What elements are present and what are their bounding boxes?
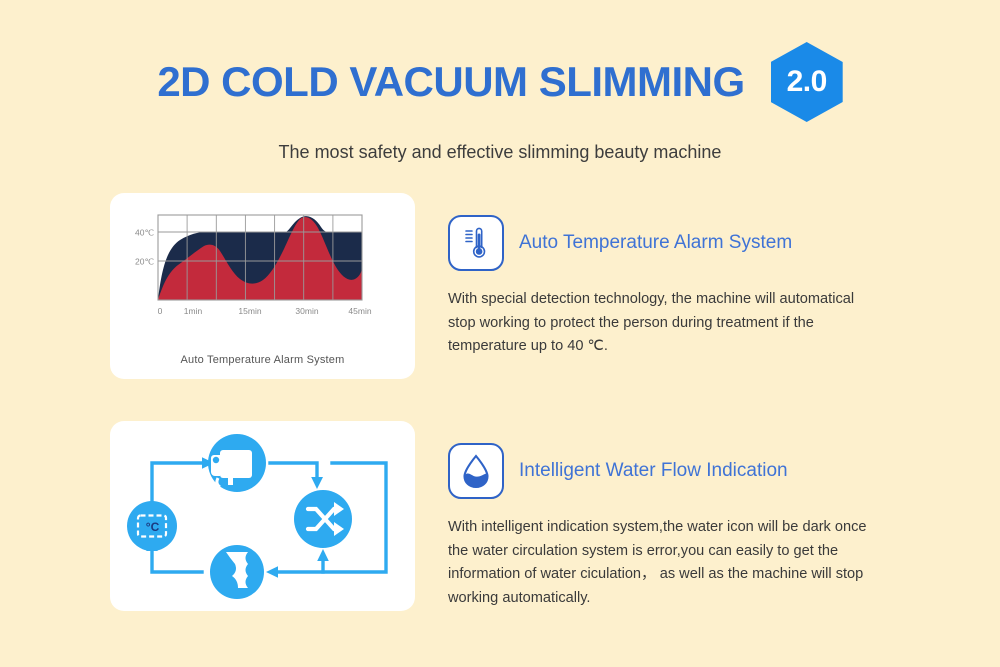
flow-diagram-svg: °C <box>110 421 415 611</box>
flow-node-shuffle <box>294 490 352 548</box>
feature-body-water: With intelligent indication system,the w… <box>448 516 878 611</box>
feature-title-water: Intelligent Water Flow Indication <box>519 460 788 482</box>
chart-xtick-15min: 15min <box>238 306 261 316</box>
feature-header-temperature: Auto Temperature Alarm System <box>448 215 918 271</box>
flow-node-handpiece <box>210 545 264 599</box>
chart-svg: 40℃ 20℃ 0 1min 15min 30min 45min <box>110 193 415 379</box>
flow-node-temperature-display: °C <box>127 501 177 551</box>
header: 2D COLD VACUUM SLIMMING 2.0 The most saf… <box>0 0 1000 163</box>
flow-arrow-left-to-top <box>152 463 202 503</box>
chart-ytick-40: 40℃ <box>135 228 154 238</box>
chart-xtick-1min: 1min <box>184 306 203 316</box>
water-flow-diagram: °C <box>110 421 415 611</box>
chart-xtick-30min: 30min <box>295 306 318 316</box>
flow-arrowhead-right <box>311 477 323 489</box>
flow-diagram-card: °C <box>110 421 415 611</box>
page-title: 2D COLD VACUUM SLIMMING <box>157 58 744 106</box>
flow-arrow-top-to-right <box>270 463 317 477</box>
version-badge: 2.0 <box>771 42 843 122</box>
thermometer-icon <box>459 225 493 261</box>
version-badge-label: 2.0 <box>787 65 827 99</box>
svg-text:°C: °C <box>146 520 160 534</box>
feature-text-temperature: Auto Temperature Alarm System With speci… <box>448 193 918 359</box>
chart-xtick-45min: 45min <box>348 306 371 316</box>
chart-caption: Auto Temperature Alarm System <box>110 354 415 366</box>
page-subtitle: The most safety and effective slimming b… <box>0 142 1000 163</box>
water-drop-icon <box>460 453 492 489</box>
feature-header-water: Intelligent Water Flow Indication <box>448 443 918 499</box>
chart-ytick-20: 20℃ <box>135 257 154 267</box>
thermometer-icon-box <box>448 215 504 271</box>
title-row: 2D COLD VACUUM SLIMMING 2.0 <box>0 0 1000 122</box>
chart-card: 40℃ 20℃ 0 1min 15min 30min 45min Auto Te… <box>110 193 415 379</box>
feature-body-temperature: With special detection technology, the m… <box>448 288 878 359</box>
flow-arrow-bottom-to-left <box>152 551 202 572</box>
feature-title-temperature: Auto Temperature Alarm System <box>519 232 792 254</box>
temperature-chart: 40℃ 20℃ 0 1min 15min 30min 45min Auto Te… <box>110 193 415 379</box>
flow-arrowhead-bottom <box>266 566 278 578</box>
feature-text-water: Intelligent Water Flow Indication With i… <box>448 421 918 611</box>
water-drop-icon-box <box>448 443 504 499</box>
flow-node-water-pump <box>208 434 266 492</box>
feature-block-temperature: 40℃ 20℃ 0 1min 15min 30min 45min Auto Te… <box>110 193 918 379</box>
flow-arrowhead-right-up <box>317 549 329 561</box>
chart-xtick-0: 0 <box>158 306 163 316</box>
feature-block-water: °C <box>110 421 918 611</box>
poster-root: 2D COLD VACUUM SLIMMING 2.0 The most saf… <box>0 0 1000 667</box>
